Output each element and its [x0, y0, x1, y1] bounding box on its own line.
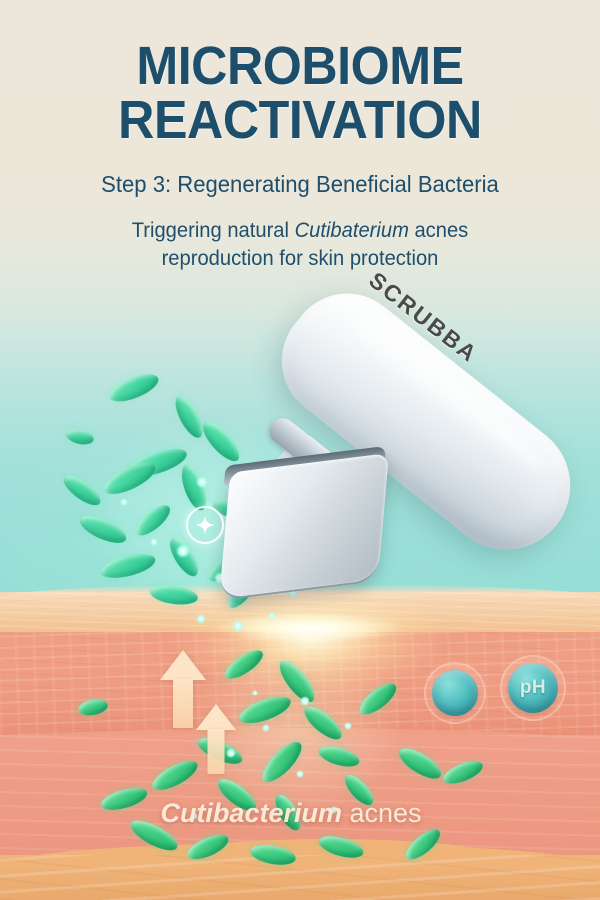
sparkle-dot: [262, 724, 270, 732]
step-subtitle: Step 3: Regenerating Beneficial Bacteria: [12, 171, 588, 198]
caption-species: acnes: [342, 798, 422, 828]
sparkle-dot: [120, 498, 128, 506]
sparkle-glyph: [195, 515, 215, 535]
page-title-line2: REACTIVATION: [21, 92, 579, 146]
sparkle-dot: [296, 770, 304, 778]
description-part1: Triggering natural: [132, 219, 295, 242]
infographic-poster: MICROBIOME REACTIVATION Step 3: Regenera…: [0, 0, 600, 900]
badge-label: pH: [520, 677, 546, 699]
sparkle-dot: [196, 614, 206, 624]
sparkle-dot: [176, 544, 190, 558]
scrubba-device[interactable]: SCRUBBA: [240, 300, 600, 620]
sparkle-dot: [344, 722, 352, 730]
badge-dome: [432, 670, 478, 716]
arrow-head: [196, 704, 236, 730]
page-title-line1: MICROBIOME: [21, 0, 579, 92]
caption-genus: Cutibacterium: [160, 798, 342, 828]
description-line2: reproduction for skin protection: [162, 247, 439, 270]
sensor-badge-plain[interactable]: [424, 662, 486, 724]
description-part2: acnes: [409, 219, 468, 242]
sparkle-dot: [196, 476, 208, 488]
badge-dome: pH: [508, 663, 558, 713]
species-caption: Cutibacterium acnes: [0, 798, 600, 829]
sparkle-dot: [232, 620, 244, 632]
description-genus-italic: Cutibaterium: [295, 219, 409, 242]
header-block: MICROBIOME REACTIVATION Step 3: Regenera…: [0, 0, 600, 273]
arrow-shaft: [208, 729, 225, 774]
sparkle-dot: [150, 538, 158, 546]
sensor-badge-ph[interactable]: pH: [500, 655, 566, 721]
regeneration-arrow-2: [196, 704, 236, 774]
hypodermis-texture: [0, 855, 600, 900]
skin-layer-hypodermis: [0, 855, 600, 900]
description-text: Triggering natural Cutibaterium acnes re…: [12, 217, 588, 272]
arrow-shaft: [173, 679, 193, 728]
sparkle-dot: [300, 696, 310, 706]
sparkle-badge-icon: [186, 506, 224, 544]
sparkle-dot: [252, 690, 258, 696]
device-blade: [219, 453, 389, 601]
arrow-head: [160, 650, 206, 680]
